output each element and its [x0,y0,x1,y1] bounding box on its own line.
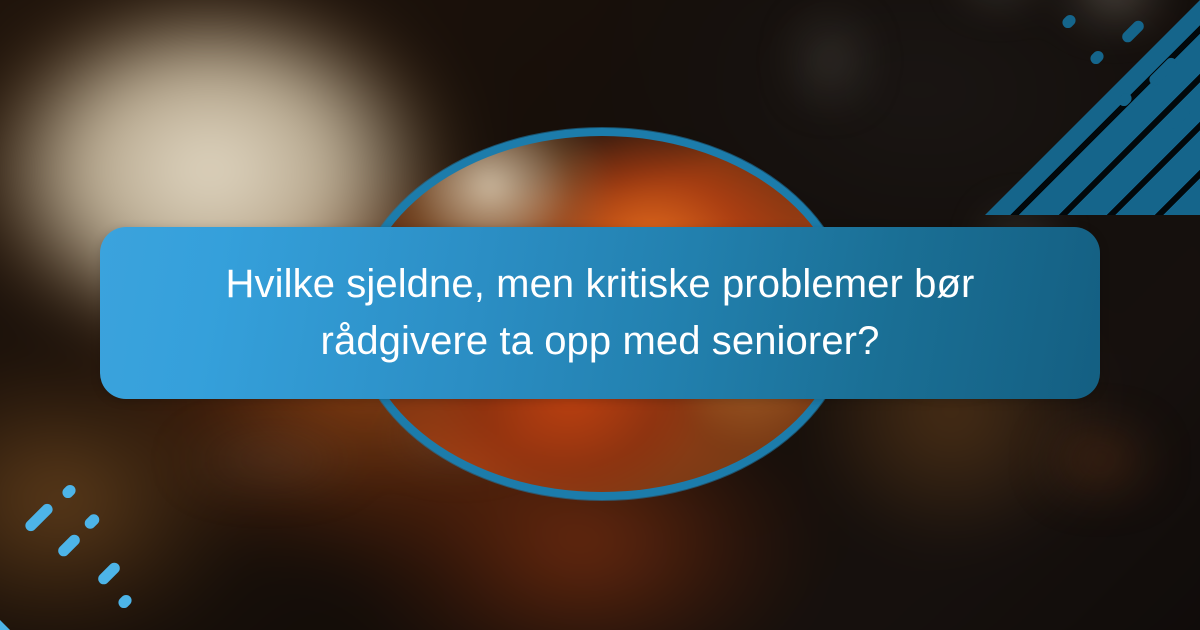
social-share-card: Hvilke sjeldne, men kritiske problemer b… [0,0,1200,630]
page-title: Hvilke sjeldne, men kritiske problemer b… [126,256,1074,370]
title-banner: Hvilke sjeldne, men kritiske problemer b… [100,227,1100,399]
